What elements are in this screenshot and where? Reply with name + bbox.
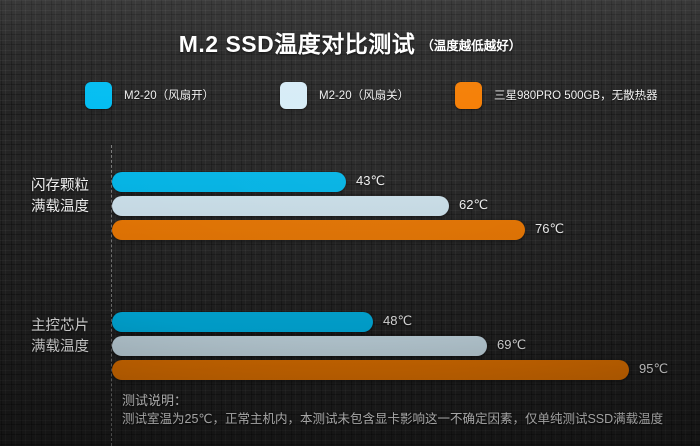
bar-flash-fan-off: [112, 196, 449, 216]
bar-controller-fan-on: [112, 312, 373, 332]
bar-controller-samsung: [112, 360, 629, 380]
category-label-flash: 闪存颗粒 满载温度: [14, 176, 106, 218]
title-main-text: M.2 SSD温度对比测试: [179, 31, 416, 57]
legend-label-samsung: 三星980PRO 500GB，无散热器: [494, 87, 658, 103]
chart-canvas: M.2 SSD温度对比测试（温度越低越好） M2-20（风扇开） M2-20（风…: [0, 0, 700, 446]
footnote: 测试说明： 测试室温为25℃，正常主机内，本测试未包含显卡影响这一不确定因素，仅…: [122, 392, 687, 429]
page-title: M.2 SSD温度对比测试（温度越低越好）: [0, 25, 700, 59]
bar-value-flash-fan-off: 62℃: [459, 197, 488, 213]
category-label-controller-line1: 主控芯片: [14, 316, 106, 337]
bar-controller-fan-off: [112, 336, 487, 356]
legend-swatch-orange: [455, 82, 482, 109]
axis-baseline: [111, 145, 112, 446]
bar-flash-samsung: [112, 220, 525, 240]
legend-label-fan-on: M2-20（风扇开）: [124, 87, 214, 103]
legend-item-samsung: 三星980PRO 500GB，无散热器: [455, 80, 658, 110]
chart-legend: M2-20（风扇开） M2-20（风扇关） 三星980PRO 500GB，无散热…: [85, 80, 665, 110]
category-label-controller-line2: 满载温度: [14, 337, 106, 358]
bar-value-flash-fan-on: 43℃: [356, 173, 385, 189]
footnote-title: 测试说明：: [122, 392, 687, 410]
bar-value-flash-samsung: 76℃: [535, 221, 564, 237]
category-label-controller: 主控芯片 满载温度: [14, 316, 106, 358]
bar-flash-fan-on: [112, 172, 346, 192]
bar-value-controller-fan-off: 69℃: [497, 337, 526, 353]
legend-label-fan-off: M2-20（风扇关）: [319, 87, 409, 103]
legend-item-fan-off: M2-20（风扇关）: [280, 80, 409, 110]
chart-content: M.2 SSD温度对比测试（温度越低越好） M2-20（风扇开） M2-20（风…: [0, 0, 700, 446]
title-subtitle-text: （温度越低越好）: [421, 39, 521, 53]
legend-swatch-cyan: [85, 82, 112, 109]
category-label-flash-line1: 闪存颗粒: [14, 176, 106, 197]
footnote-body: 测试室温为25℃，正常主机内，本测试未包含显卡影响这一不确定因素，仅单纯测试SS…: [122, 410, 687, 429]
bar-value-controller-samsung: 95℃: [639, 361, 668, 377]
legend-item-fan-on: M2-20（风扇开）: [85, 80, 214, 110]
bar-value-controller-fan-on: 48℃: [383, 313, 412, 329]
legend-swatch-pale-blue: [280, 82, 307, 109]
category-label-flash-line2: 满载温度: [14, 197, 106, 218]
